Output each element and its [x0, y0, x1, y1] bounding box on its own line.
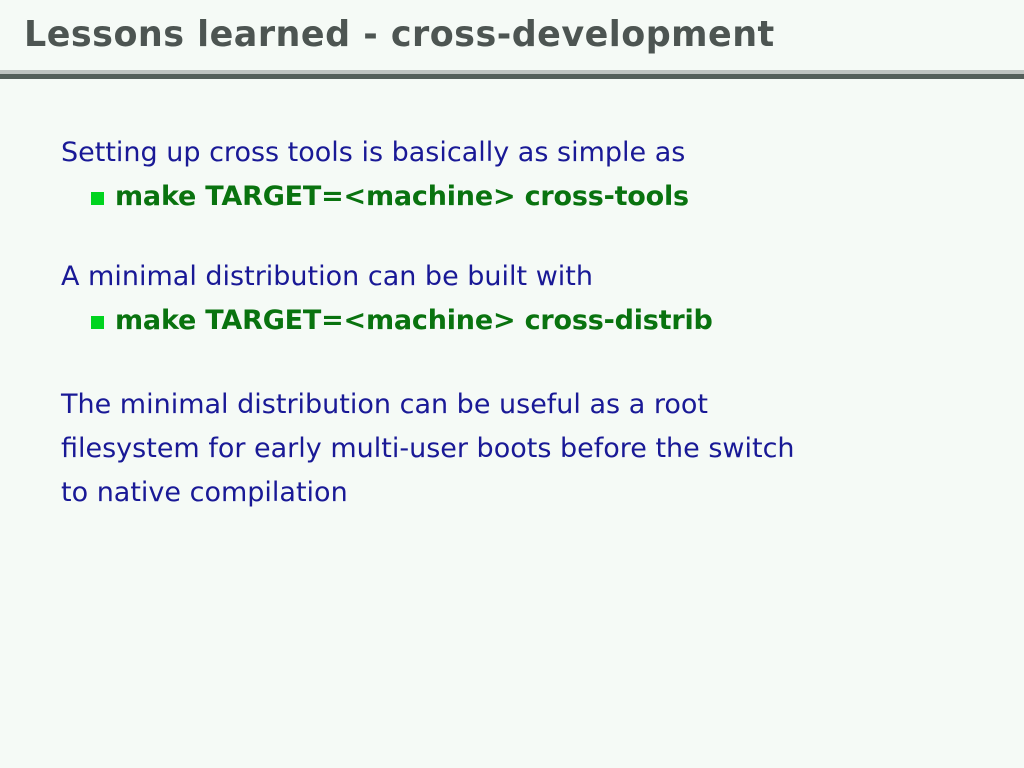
command-text: make TARGET=<machine> cross-distrib	[115, 299, 713, 343]
list-item: make TARGET=<machine> cross-tools	[91, 175, 1001, 219]
page-title: Lessons learned - cross-development	[24, 14, 775, 55]
block-lead-text: Setting up cross tools is basically as s…	[61, 131, 1001, 175]
slide-body: Setting up cross tools is basically as s…	[61, 131, 1001, 515]
title-divider	[0, 70, 1024, 79]
paragraph-line: filesystem for early multi-user boots be…	[61, 427, 1001, 471]
list-item: make TARGET=<machine> cross-distrib	[91, 299, 1001, 343]
content-block: Setting up cross tools is basically as s…	[61, 131, 1001, 219]
paragraph-line: The minimal distribution can be useful a…	[61, 383, 1001, 427]
square-bullet-icon	[91, 316, 104, 329]
block-lead-text: A minimal distribution can be built with	[61, 255, 1001, 299]
closing-paragraph: The minimal distribution can be useful a…	[61, 383, 1001, 515]
command-text: make TARGET=<machine> cross-tools	[115, 175, 689, 219]
paragraph-line: to native compilation	[61, 471, 1001, 515]
content-block: A minimal distribution can be built with…	[61, 255, 1001, 343]
square-bullet-icon	[91, 192, 104, 205]
divider-shadow-line	[0, 74, 1024, 79]
